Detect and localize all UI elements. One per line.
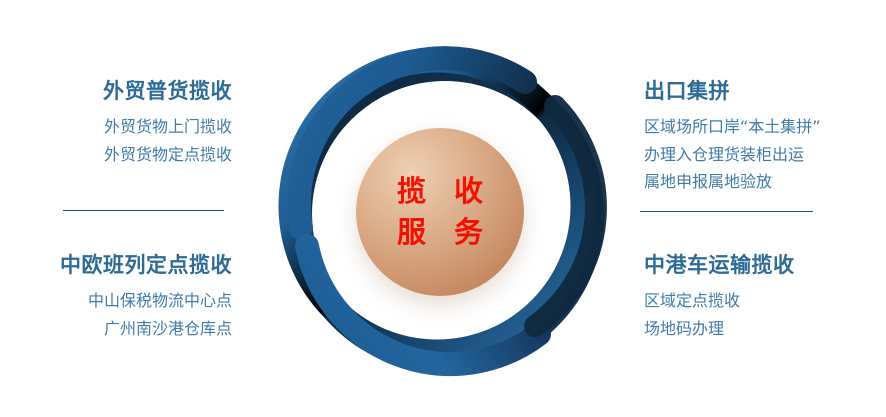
quadrant-top-right: 出口集拼 区域场所口岸“本土集拼” 办理入仓理货装柜出运 属地申报属地验放 [644, 78, 886, 196]
divider-right [640, 211, 813, 212]
quadrant-top-left: 外贸普货揽收 外贸货物上门揽收 外贸货物定点揽收 [0, 78, 232, 168]
quadrant-top-right-line-1: 区域场所口岸“本土集拼” [644, 113, 886, 141]
infographic-canvas: 揽 收 服 务 外贸普货揽收 外贸货物上门揽收 外贸货物定点揽收 中欧班列定点揽… [0, 0, 886, 417]
quadrant-top-right-line-3: 属地申报属地验放 [644, 168, 886, 196]
center-sphere: 揽 收 服 务 [356, 128, 524, 296]
sphere-line-2: 服 务 [388, 212, 492, 253]
quadrant-bottom-right: 中港车运输揽收 区域定点揽收 场地码办理 [644, 252, 886, 342]
quadrant-top-right-line-2: 办理入仓理货装柜出运 [644, 141, 886, 169]
sphere-line-1: 揽 收 [388, 171, 492, 212]
quadrant-bottom-right-heading: 中港车运输揽收 [644, 252, 886, 278]
quadrant-top-right-heading: 出口集拼 [644, 78, 886, 104]
quadrant-top-left-heading: 外贸普货揽收 [0, 78, 232, 104]
quadrant-bottom-left-line-2: 广州南沙港仓库点 [0, 315, 232, 343]
quadrant-bottom-left-heading: 中欧班列定点揽收 [0, 252, 232, 278]
quadrant-top-left-line-1: 外贸货物上门揽收 [0, 113, 232, 141]
quadrant-bottom-right-line-1: 区域定点揽收 [644, 287, 886, 315]
quadrant-bottom-left: 中欧班列定点揽收 中山保税物流中心点 广州南沙港仓库点 [0, 252, 232, 342]
quadrant-top-left-line-2: 外贸货物定点揽收 [0, 141, 232, 169]
quadrant-bottom-left-line-1: 中山保税物流中心点 [0, 287, 232, 315]
divider-left [63, 210, 224, 211]
quadrant-bottom-right-line-2: 场地码办理 [644, 315, 886, 343]
